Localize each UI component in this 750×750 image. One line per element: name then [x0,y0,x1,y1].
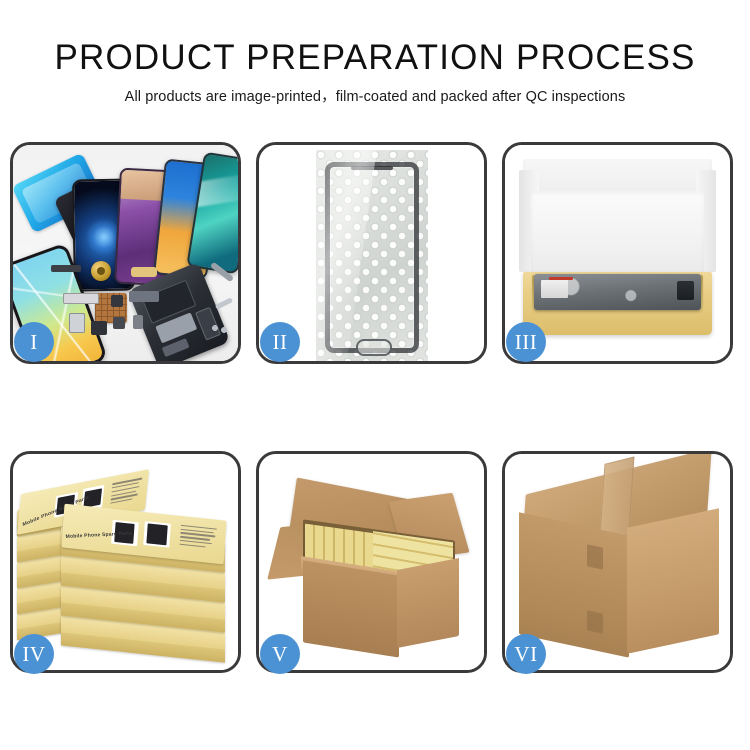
screws-icon [211,323,229,333]
step-badge-5: V [260,634,300,674]
connector-icon-1 [69,313,85,333]
screen-connector [677,281,694,300]
connector-icon-3 [113,317,125,329]
open-kraft-box-icon [519,159,716,335]
step-badge-3: III [506,322,546,362]
copper-coil-icon [91,261,111,281]
product-preparation-infographic: PRODUCT PREPARATION PROCESS All products… [0,0,750,750]
flex-cable-icon-4 [129,291,159,302]
sealed-carton-icon [515,472,721,658]
carton-side-face [627,508,719,654]
flex-cable-icon-2 [63,293,99,304]
packed-screen-icon [534,274,700,309]
open-carton-icon [275,472,471,660]
screen-red-mark [549,277,572,280]
step-badge-1: I [14,322,54,362]
flex-cable-icon-3 [131,267,157,277]
step-badge-2: II [260,322,300,362]
flex-cable-icon-1 [51,265,81,272]
carton-seam-bottom [587,610,603,633]
carton-side-face [397,558,459,648]
step-badge-6: VI [506,634,546,674]
connector-icon-5 [111,295,123,307]
bubble-wrapped-screen-icon [316,150,428,361]
connector-icon-4 [133,315,143,329]
step-grid: Mobile Phone Spare Parts [0,0,750,750]
carton-seam-top [587,544,603,569]
step-badge-4: IV [14,634,54,674]
retail-box-stack-icon: Mobile Phone Spare Parts [17,468,233,660]
foam-padding [531,191,704,283]
connector-icon-2 [91,321,107,335]
carton-front-face [303,560,399,657]
screen-label [541,280,568,298]
home-button-icon [356,339,392,356]
box-tray [523,272,712,335]
